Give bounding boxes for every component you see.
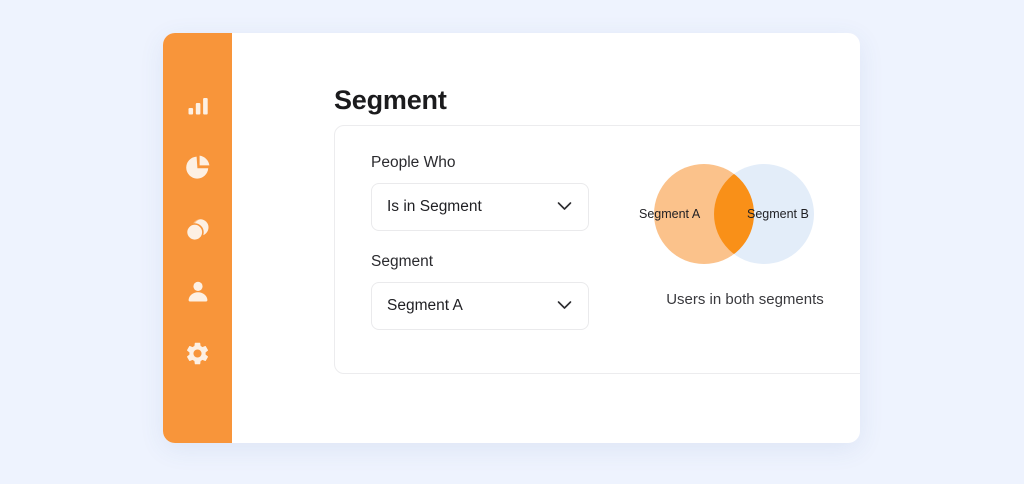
venn-label-segment-a: Segment A: [639, 207, 700, 221]
people-who-select[interactable]: Is in Segment: [371, 183, 589, 231]
field-label-segment: Segment: [371, 253, 591, 271]
venn-caption: Users in both segments: [625, 291, 860, 308]
venn-diagram: Segment A Segment B: [625, 144, 860, 284]
field-label-people-who: People Who: [371, 154, 591, 172]
sidebar-item-segments[interactable]: [179, 210, 217, 248]
gear-icon: [184, 340, 211, 367]
segment-builder-panel: People Who Is in Segment Segment Segment: [334, 125, 860, 374]
field-people-who: People Who Is in Segment: [371, 154, 591, 231]
field-segment: Segment Segment A: [371, 253, 591, 330]
pie-chart-icon: [184, 153, 212, 181]
segment-select[interactable]: Segment A: [371, 282, 589, 330]
venn-label-segment-b: Segment B: [747, 207, 809, 221]
main-content: Segment People Who Is in Segment: [232, 33, 860, 443]
venn-circles-icon: [184, 216, 211, 243]
sidebar-item-reports[interactable]: [179, 148, 217, 186]
segment-builder-card: Segment People Who Is in Segment: [163, 33, 860, 443]
people-who-value: Is in Segment: [372, 198, 482, 216]
sidebar-item-audience[interactable]: [179, 272, 217, 310]
sidebar-item-settings[interactable]: [179, 334, 217, 372]
venn-preview: Segment A Segment B Users in both segmen…: [625, 144, 860, 339]
person-icon: [185, 278, 211, 304]
chevron-down-icon: [557, 297, 572, 315]
sidebar-item-analytics[interactable]: [179, 86, 217, 124]
chevron-down-icon: [557, 198, 572, 216]
segment-value: Segment A: [372, 297, 463, 315]
form-column: People Who Is in Segment Segment Segment: [371, 154, 591, 352]
page-title: Segment: [334, 85, 447, 116]
bar-chart-icon: [185, 92, 211, 118]
sidebar-nav: [163, 33, 232, 443]
